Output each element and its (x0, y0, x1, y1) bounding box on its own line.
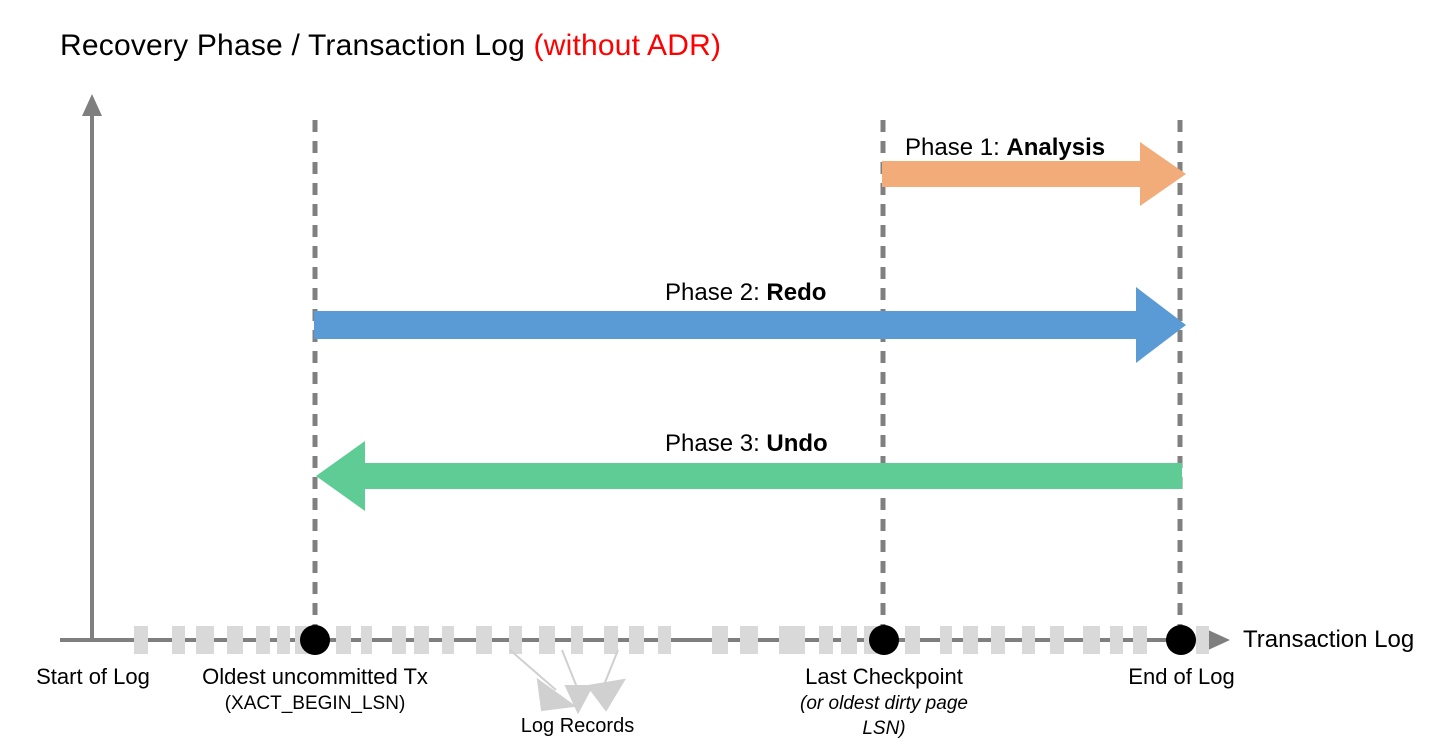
axis-label-last-checkpoint-main: Last Checkpoint (805, 664, 963, 689)
phase-3-prefix: Phase 3: (665, 430, 766, 457)
axis-label-end-of-log: End of Log (1094, 663, 1269, 691)
phase-2-name: Redo (766, 279, 826, 306)
marker-end-of-log (1166, 625, 1196, 655)
phase-1-prefix: Phase 1: (905, 134, 1006, 161)
axis-label-last-checkpoint-sub2: LSN) (766, 716, 1002, 741)
axis-title-transaction-log: Transaction Log (1243, 625, 1414, 655)
axis-label-oldest-uncommitted-tx: Oldest uncommitted Tx (XACT_BEGIN_LSN) (155, 663, 475, 716)
axis-label-oldest-uncommitted-tx-main: Oldest uncommitted Tx (202, 664, 428, 689)
log-records-callout-arrows (510, 650, 624, 712)
recovery-phase-diagram (0, 0, 1450, 756)
phase-2-prefix: Phase 2: (665, 279, 766, 306)
axis-label-oldest-uncommitted-tx-sub: (XACT_BEGIN_LSN) (155, 691, 475, 716)
vertical-axis (82, 94, 102, 640)
guide-lines (315, 120, 1180, 640)
phase-1-label: Phase 1: Analysis (905, 133, 1105, 163)
phase-3-label: Phase 3: Undo (665, 429, 828, 459)
phase-2-label: Phase 2: Redo (665, 278, 826, 308)
phase-1-name: Analysis (1006, 134, 1105, 161)
axis-label-last-checkpoint-sub: (or oldest dirty page (766, 691, 1002, 716)
axis-label-last-checkpoint: Last Checkpoint (or oldest dirty page LS… (766, 663, 1002, 741)
axis-label-start-of-log: Start of Log (28, 663, 158, 691)
marker-oldest-uncommitted-tx (300, 625, 330, 655)
diagram-canvas: Recovery Phase / Transaction Log (withou… (0, 0, 1450, 756)
phase-3-name: Undo (766, 430, 827, 457)
log-records-callout-label: Log Records (490, 713, 665, 739)
marker-last-checkpoint (869, 625, 899, 655)
